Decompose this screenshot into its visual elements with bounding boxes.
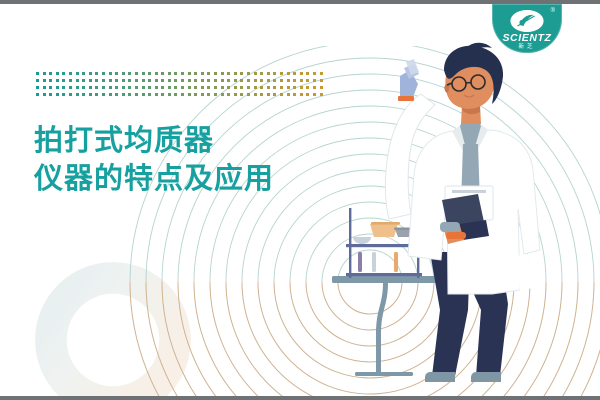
gloved-hand-with-test-tube (398, 59, 419, 101)
logo-chinese-mark: 新芝 (492, 42, 562, 50)
lab-table (332, 276, 444, 376)
scientist-illustration (0, 4, 600, 400)
scientist-figure (385, 43, 540, 382)
logo-emblem-icon (511, 10, 544, 32)
scientz-logo[interactable]: ® SCIENTZ 新芝 (492, 4, 562, 53)
poster-canvas: 拍打式均质器 仪器的特点及应用 (0, 0, 600, 400)
registered-trademark-icon: ® (551, 8, 555, 14)
